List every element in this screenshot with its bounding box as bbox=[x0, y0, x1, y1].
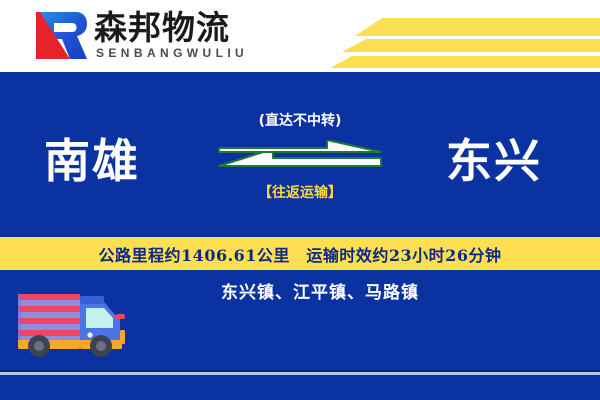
footer-divider-light bbox=[0, 372, 600, 375]
route-row: 南雄 (直达不中转) 【往返运输】 东兴 bbox=[0, 118, 600, 198]
delivery-truck-icon bbox=[12, 286, 132, 362]
poster-header: 森邦物流 SENBANGWULIU bbox=[0, 0, 600, 72]
senbang-r-logo-icon bbox=[32, 9, 88, 63]
destination-city: 东兴 bbox=[352, 118, 552, 198]
yellow-speed-stripes-icon bbox=[330, 0, 600, 72]
brand-name-en: SENBANGWULIU bbox=[96, 46, 248, 60]
distance-duration-band: 公路里程约1406.61公里 运输时效约23小时26分钟 bbox=[0, 237, 600, 270]
logistics-route-poster: 森邦物流 SENBANGWULIU 南雄 (直达不中转) 【往返运输】 东兴 bbox=[0, 0, 600, 400]
brand-name-cn: 森邦物流 bbox=[94, 10, 230, 46]
coverage-towns: 东兴镇、江平镇、马路镇 bbox=[120, 278, 520, 303]
distance-duration-text: 公路里程约1406.61公里 运输时效约23小时26分钟 bbox=[99, 242, 502, 266]
